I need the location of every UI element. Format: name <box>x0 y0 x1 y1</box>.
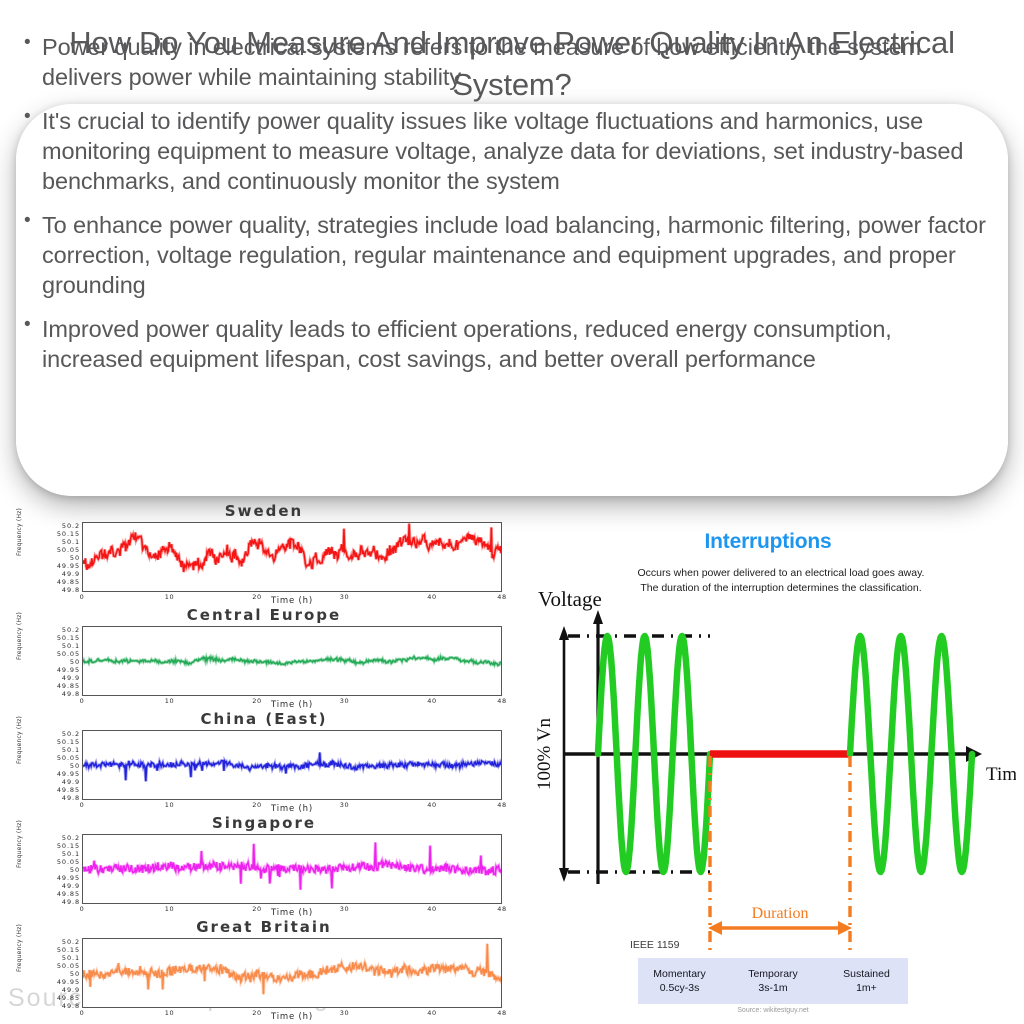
list-item: To enhance power quality, strategies inc… <box>20 210 992 301</box>
y-tick-label: 50.2 <box>62 730 80 738</box>
frequency-y-ticks: 50.250.1550.150.055049.9549.949.8549.8 <box>28 522 80 592</box>
y-tick-label: 50.2 <box>62 626 80 634</box>
y-tick-label: 49.95 <box>57 874 80 882</box>
interruptions-description-line-1: Occurs when power delivered to an electr… <box>616 566 946 581</box>
class-range: 1m+ <box>856 981 877 995</box>
page-title: How Do You Measure And Improve Power Qua… <box>40 22 984 107</box>
y-tick-label: 50.2 <box>62 834 80 842</box>
y-tick-label: 50.1 <box>62 642 80 650</box>
frequency-x-axis-label: Time (h) <box>82 804 502 814</box>
interruptions-source: Source: wikitestguy.net <box>638 1007 908 1014</box>
y-tick-label: 50.05 <box>57 650 80 658</box>
y-tick-label: 50.15 <box>57 634 80 642</box>
vn-scale-label: 100% Vn <box>534 718 555 790</box>
y-tick-label: 50 <box>70 554 80 562</box>
y-tick-label: 49.85 <box>57 682 80 690</box>
y-tick-label: 50 <box>70 762 80 770</box>
frequency-x-axis-label: Time (h) <box>82 700 502 710</box>
frequency-y-ticks: 50.250.1550.150.055049.9549.949.8549.8 <box>28 730 80 800</box>
y-tick-label: 50.1 <box>62 954 80 962</box>
frequency-panel-title: Great Britain <box>14 918 514 936</box>
frequency-y-axis-label: Frequency (Hz) <box>16 496 23 556</box>
frequency-plot-area <box>82 730 502 800</box>
frequency-y-axis-label: Frequency (Hz) <box>16 912 23 972</box>
y-tick-label: 50.1 <box>62 850 80 858</box>
interruptions-diagram: Interruptions Occurs when power delivere… <box>520 524 1016 1024</box>
voltage-axis-label: Voltage <box>538 587 602 611</box>
y-tick-label: 49.85 <box>57 890 80 898</box>
frequency-panel-title: China (East) <box>14 710 514 728</box>
y-tick-label: 49.9 <box>62 882 80 890</box>
interruption-classification-table: Momentary 0.5cy-3s Temporary 3s-1m Susta… <box>638 958 908 1004</box>
table-row: Sustained 1m+ <box>825 958 908 1004</box>
y-tick-label: 49.8 <box>62 898 80 906</box>
y-tick-label: 50.15 <box>57 738 80 746</box>
frequency-panel: China (East)Frequency (Hz)50.250.1550.15… <box>14 710 514 814</box>
y-tick-label: 49.85 <box>57 994 80 1002</box>
frequency-panel-title: Singapore <box>14 814 514 832</box>
y-tick-label: 49.9 <box>62 986 80 994</box>
frequency-y-axis-label: Frequency (Hz) <box>16 600 23 660</box>
y-tick-label: 50.1 <box>62 538 80 546</box>
frequency-x-axis-label: Time (h) <box>82 1012 502 1022</box>
frequency-figure: SwedenFrequency (Hz)50.250.1550.150.0550… <box>14 502 514 1024</box>
y-tick-label: 49.85 <box>57 578 80 586</box>
class-range: 0.5cy-3s <box>660 981 700 995</box>
frequency-panel: SwedenFrequency (Hz)50.250.1550.150.0550… <box>14 502 514 606</box>
y-tick-label: 49.8 <box>62 1002 80 1010</box>
class-name: Temporary <box>748 967 798 981</box>
frequency-y-ticks: 50.250.1550.150.055049.9549.949.8549.8 <box>28 834 80 904</box>
y-tick-label: 49.95 <box>57 770 80 778</box>
frequency-x-axis-label: Time (h) <box>82 908 502 918</box>
frequency-plot-area <box>82 938 502 1008</box>
frequency-plot-area <box>82 522 502 592</box>
y-tick-label: 49.95 <box>57 978 80 986</box>
y-tick-label: 49.8 <box>62 690 80 698</box>
frequency-y-ticks: 50.250.1550.150.055049.9549.949.8549.8 <box>28 626 80 696</box>
y-tick-label: 50.15 <box>57 530 80 538</box>
time-axis-label: Time <box>986 764 1016 785</box>
y-tick-label: 50.2 <box>62 522 80 530</box>
waveform-after-interruption <box>850 636 972 872</box>
y-tick-label: 49.9 <box>62 778 80 786</box>
slide-canvas: How Do You Measure And Improve Power Qua… <box>0 0 1024 1024</box>
class-range: 3s-1m <box>758 981 787 995</box>
vn-measure-arrow-bottom <box>559 868 569 882</box>
table-row: Momentary 0.5cy-3s <box>638 958 721 1004</box>
y-tick-label: 50.05 <box>57 546 80 554</box>
frequency-panel: Great BritainFrequency (Hz)50.250.1550.1… <box>14 918 514 1022</box>
frequency-y-axis-label: Frequency (Hz) <box>16 808 23 868</box>
ieee-standard-label: IEEE 1159 <box>630 939 679 951</box>
y-tick-label: 49.9 <box>62 570 80 578</box>
y-tick-label: 50.15 <box>57 946 80 954</box>
y-tick-label: 49.8 <box>62 586 80 594</box>
class-name: Momentary <box>653 967 706 981</box>
table-row: Temporary 3s-1m <box>721 958 825 1004</box>
frequency-panel-title: Sweden <box>14 502 514 520</box>
class-name: Sustained <box>843 967 890 981</box>
y-tick-label: 50.05 <box>57 754 80 762</box>
frequency-plot-area <box>82 834 502 904</box>
frequency-x-axis-label: Time (h) <box>82 596 502 606</box>
y-tick-label: 49.95 <box>57 666 80 674</box>
frequency-panel: SingaporeFrequency (Hz)50.250.1550.150.0… <box>14 814 514 918</box>
y-tick-label: 50 <box>70 866 80 874</box>
y-tick-label: 50.05 <box>57 858 80 866</box>
y-tick-label: 49.8 <box>62 794 80 802</box>
y-tick-label: 50 <box>70 658 80 666</box>
waveform-before-interruption <box>598 636 710 872</box>
list-item: Improved power quality leads to efficien… <box>20 314 992 375</box>
voltage-axis-arrow <box>593 610 603 624</box>
y-tick-label: 50 <box>70 970 80 978</box>
y-tick-label: 49.85 <box>57 786 80 794</box>
duration-label: Duration <box>752 905 809 922</box>
y-tick-label: 50.15 <box>57 842 80 850</box>
y-tick-label: 50.2 <box>62 938 80 946</box>
y-tick-label: 49.9 <box>62 674 80 682</box>
y-tick-label: 50.05 <box>57 962 80 970</box>
vn-measure-arrow-top <box>559 626 569 640</box>
frequency-y-axis-label: Frequency (Hz) <box>16 704 23 764</box>
frequency-panel-title: Central Europe <box>14 606 514 624</box>
y-tick-label: 50.1 <box>62 746 80 754</box>
frequency-plot-area <box>82 626 502 696</box>
y-tick-label: 49.95 <box>57 562 80 570</box>
interruptions-waveform-svg: Voltage 100% Vn Time <box>520 584 1016 954</box>
frequency-y-ticks: 50.250.1550.150.055049.9549.949.8549.8 <box>28 938 80 1008</box>
interruptions-title: Interruptions <box>520 530 1016 554</box>
frequency-panel: Central EuropeFrequency (Hz)50.250.1550.… <box>14 606 514 710</box>
list-item: It's crucial to identify power quality i… <box>20 106 992 197</box>
